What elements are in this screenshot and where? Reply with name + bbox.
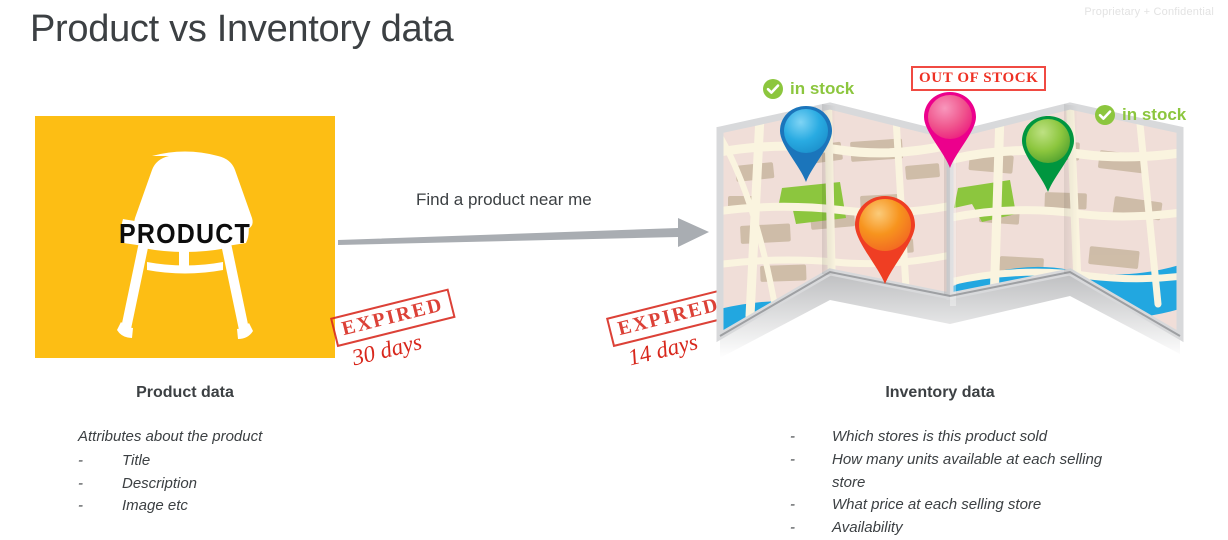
status-badge-in-stock-right: in stock <box>1094 104 1186 126</box>
map-illustration <box>700 96 1200 371</box>
inventory-data-caption: Inventory data <box>790 384 1090 402</box>
list-item: - Image etc <box>78 495 378 518</box>
flow-arrow-icon <box>338 216 710 250</box>
status-badge-label: in stock <box>1122 105 1186 125</box>
product-data-caption: Product data <box>35 384 335 402</box>
bullet-marker: - <box>78 495 122 518</box>
expired-stamp-product: EXPIRED 30 days <box>330 288 462 374</box>
status-badge-label: in stock <box>790 79 854 99</box>
bullet-marker: - <box>78 473 122 496</box>
out-of-stock-label: OUT OF STOCK <box>919 70 1038 86</box>
list-item: - How many units available at each selli… <box>790 449 1130 495</box>
bullet-text: Availability <box>832 517 1130 540</box>
bullet-text: What price at each selling store <box>832 494 1130 517</box>
out-of-stock-stamp: OUT OF STOCK <box>911 66 1046 91</box>
pin-blue[interactable] <box>778 104 834 184</box>
list-item: - Which stores is this product sold <box>790 426 1130 449</box>
product-bullet-list: Attributes about the product - Title - D… <box>78 426 378 518</box>
product-image: PRODUCT <box>35 116 335 358</box>
page-title: Product vs Inventory data <box>30 8 453 51</box>
confidential-notice: Proprietary + Confidential <box>1084 6 1214 18</box>
bullet-marker: - <box>790 449 832 495</box>
arrow-label: Find a product near me <box>416 190 592 210</box>
product-image-word: PRODUCT <box>35 218 335 250</box>
list-item: - Title <box>78 450 378 473</box>
bullet-text: Image etc <box>122 495 378 518</box>
bullet-marker: - <box>790 426 832 449</box>
list-item: - What price at each selling store <box>790 494 1130 517</box>
inventory-bullet-list: - Which stores is this product sold - Ho… <box>790 426 1130 540</box>
bullet-text: Title <box>122 450 378 473</box>
bullet-text: How many units available at each selling… <box>832 449 1130 495</box>
list-item: - Availability <box>790 517 1130 540</box>
pin-orange[interactable] <box>852 194 918 286</box>
pin-green[interactable] <box>1020 114 1076 194</box>
bullet-marker: - <box>790 517 832 540</box>
bullet-marker: - <box>78 450 122 473</box>
bullet-marker: - <box>790 494 832 517</box>
check-circle-icon <box>1094 104 1116 126</box>
bullet-text: Description <box>122 473 378 496</box>
list-item: - Description <box>78 473 378 496</box>
pin-pink[interactable] <box>922 90 978 170</box>
check-circle-icon <box>762 78 784 100</box>
product-bullet-lead: Attributes about the product <box>78 426 378 449</box>
slide-root: Proprietary + Confidential Product vs In… <box>0 0 1228 540</box>
bullet-text: Which stores is this product sold <box>832 426 1130 449</box>
status-badge-in-stock-left: in stock <box>762 78 854 100</box>
